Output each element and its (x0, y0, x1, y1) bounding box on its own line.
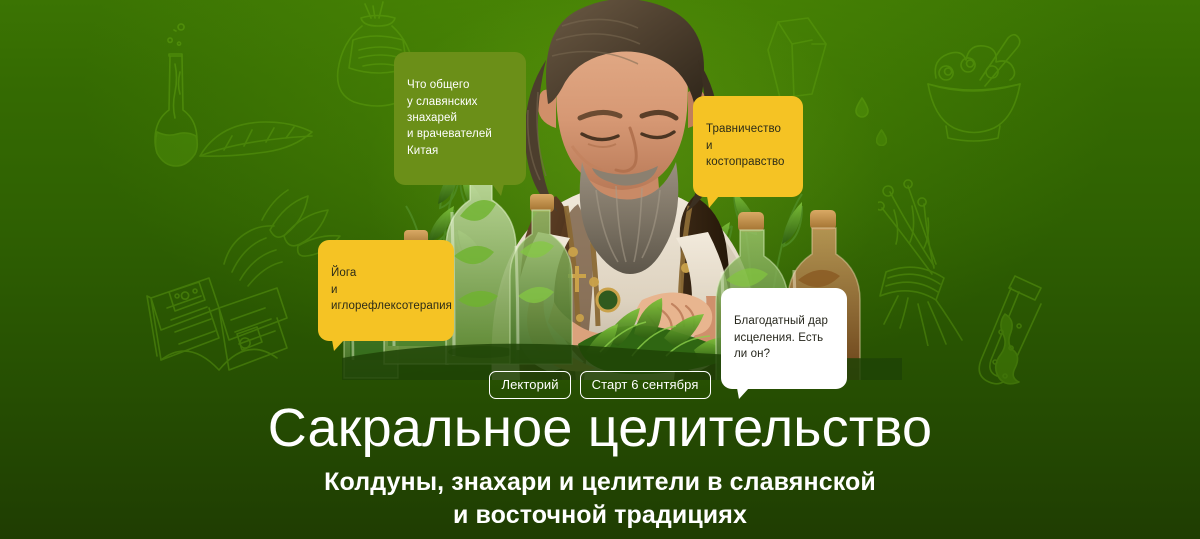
speech-bubble-olive-text: Что общего у славянских знахарей и враче… (407, 79, 492, 156)
bubble-tail (492, 184, 504, 196)
page-subtitle: Колдуны, знахари и целители в славянской… (0, 466, 1200, 531)
speech-bubble-olive: Что общего у славянских знахарей и враче… (394, 52, 526, 185)
flask-icon (148, 20, 208, 180)
badge-start-date[interactable]: Старт 6 сентября (580, 371, 711, 399)
badge-format[interactable]: Лекторий (489, 371, 570, 399)
page-title: Сакральное целительство (0, 400, 1200, 457)
speech-bubble-yoga-text: Йога и иглорефлексотерапия (331, 267, 452, 312)
bubble-tail (332, 340, 344, 351)
badge-row: Лекторий Старт 6 сентября (0, 371, 1200, 399)
speech-bubble-yoga: Йога и иглорефлексотерапия (318, 240, 454, 341)
open-book-icon (145, 272, 295, 382)
speech-bubble-gift-of-healing-text: Благодатный дар исцеления. Есть ли он? (734, 315, 828, 360)
leaf-icon (196, 112, 316, 172)
mortar-and-pestle-icon (918, 22, 1028, 142)
speech-bubble-herbalism: Травничество и костоправство (693, 96, 803, 197)
speech-bubble-herbalism-text: Травничество и костоправство (706, 123, 785, 168)
hero-banner: Что общего у славянских знахарей и враче… (0, 0, 1200, 539)
bubble-tail (707, 196, 719, 208)
